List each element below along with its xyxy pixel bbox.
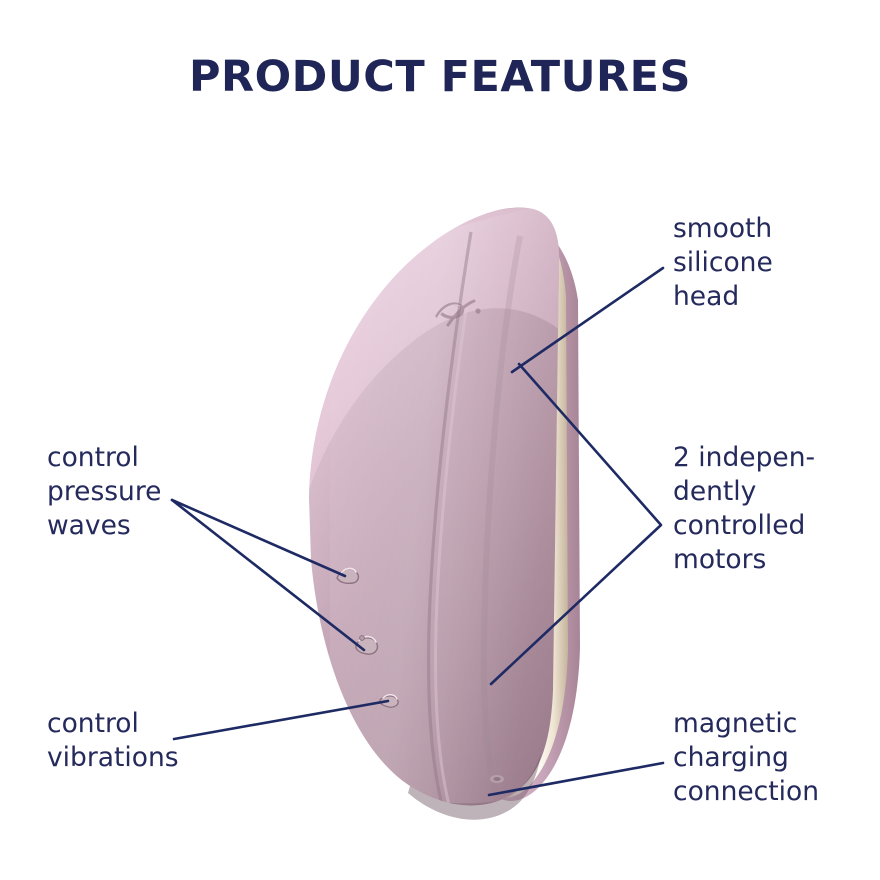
- callout-line: dently: [673, 475, 815, 509]
- callout-smooth-silicone-head: smooth silicone head: [673, 212, 773, 314]
- product-features-infographic: PRODUCT FEATURES: [0, 0, 880, 880]
- callout-line: magnetic: [673, 707, 819, 741]
- callout-magnetic-charging: magnetic charging connection: [673, 707, 819, 809]
- product-body: [290, 200, 580, 830]
- callout-line: head: [673, 280, 773, 314]
- callout-line: silicone: [673, 246, 773, 280]
- callout-line: controlled: [673, 509, 815, 543]
- callout-pressure-waves: control pressure waves: [47, 441, 161, 543]
- callout-independent-motors: 2 indepen- dently controlled motors: [673, 441, 815, 577]
- magnetic-charging-contacts: [490, 775, 504, 783]
- product-sheen: [330, 200, 560, 820]
- callout-line: control: [47, 707, 179, 741]
- callout-line: vibrations: [47, 741, 179, 775]
- callout-line: smooth: [673, 212, 773, 246]
- callout-line: waves: [47, 509, 161, 543]
- callout-line: control: [47, 441, 161, 475]
- callout-line: motors: [673, 543, 815, 577]
- callout-line: 2 indepen-: [673, 441, 815, 475]
- callout-line: charging: [673, 741, 819, 775]
- callout-line: pressure: [47, 475, 161, 509]
- callout-vibrations: control vibrations: [47, 707, 179, 775]
- callout-line: connection: [673, 775, 819, 809]
